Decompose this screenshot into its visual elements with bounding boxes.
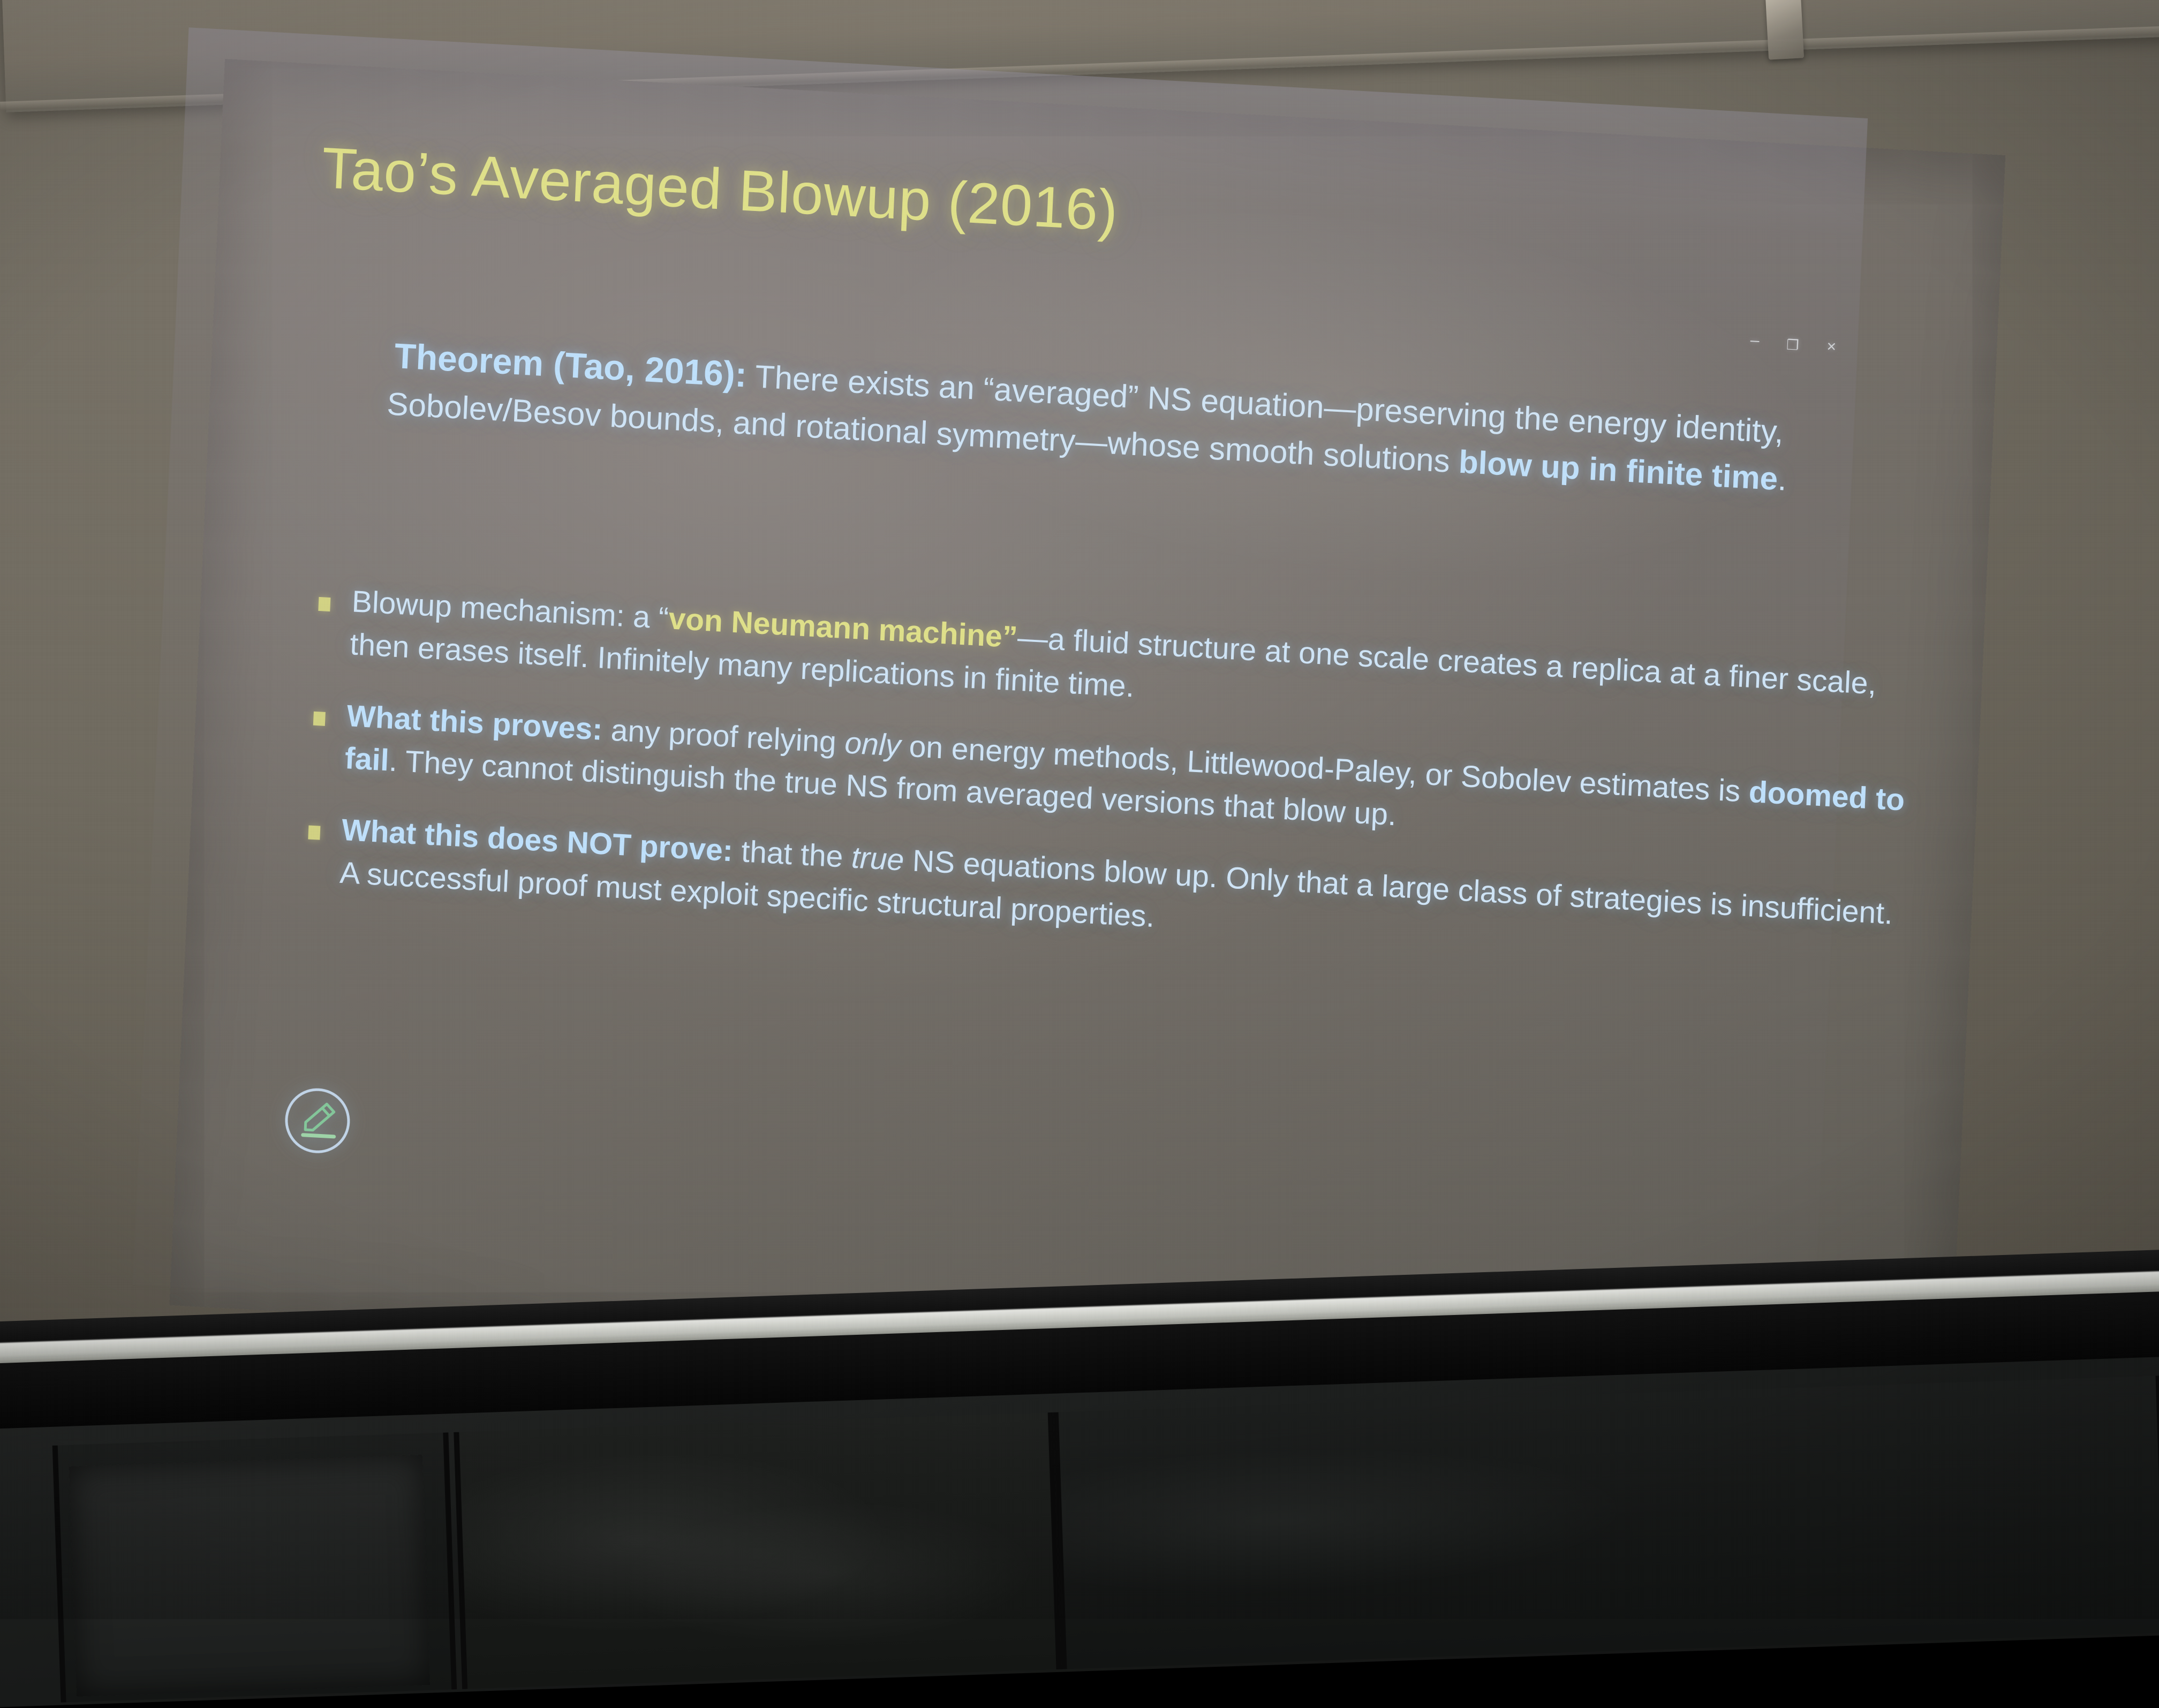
- bullet2-italic-1: only: [844, 725, 901, 763]
- bullet-square-icon: [318, 597, 330, 611]
- bullet2-lead: What this proves:: [346, 699, 603, 747]
- chalkboard-panel-middle: [454, 1412, 1061, 1689]
- pencil-icon: [281, 1084, 354, 1158]
- slide-content: Tao’s Averaged Blowup (2016) Theorem (Ta…: [169, 59, 2005, 1402]
- room-background: – ❐ × Tao’s Averaged Blowup (2016) Theor…: [0, 0, 2159, 1619]
- chalkboard-panel-right: [1053, 1376, 2159, 1669]
- theorem-heading: Theorem (Tao, 2016):: [394, 336, 748, 395]
- bullet3-segment-1: that the: [732, 834, 852, 875]
- bullet1-segment-1: Blowup mechanism: a “: [351, 584, 669, 636]
- slide-title: Tao’s Averaged Blowup (2016): [320, 134, 1119, 244]
- theorem-body-bold: blow up in finite time: [1458, 443, 1779, 496]
- theorem-body-after: .: [1777, 461, 1788, 497]
- theorem-block: Theorem (Tao, 2016): There exists an “av…: [369, 330, 1807, 503]
- bullet-square-icon: [313, 711, 326, 725]
- ceiling-fixture: [1765, 0, 1804, 60]
- bullet3-italic-1: true: [851, 841, 905, 878]
- projection-screen: – ❐ × Tao’s Averaged Blowup (2016) Theor…: [169, 59, 2005, 1402]
- chalkboard-inner-panel: [69, 1455, 430, 1697]
- bullet-list: Blowup mechanism: a “von Neumann machine…: [304, 579, 1913, 1008]
- chalkboard: [0, 1248, 2159, 1697]
- bullet2-segment-1: any proof relying: [602, 713, 846, 760]
- bullet-square-icon: [308, 826, 320, 840]
- bullet1-segment-2: —a fluid structure at one scale creates …: [349, 621, 1877, 704]
- pencil-badge-button[interactable]: [281, 1084, 354, 1158]
